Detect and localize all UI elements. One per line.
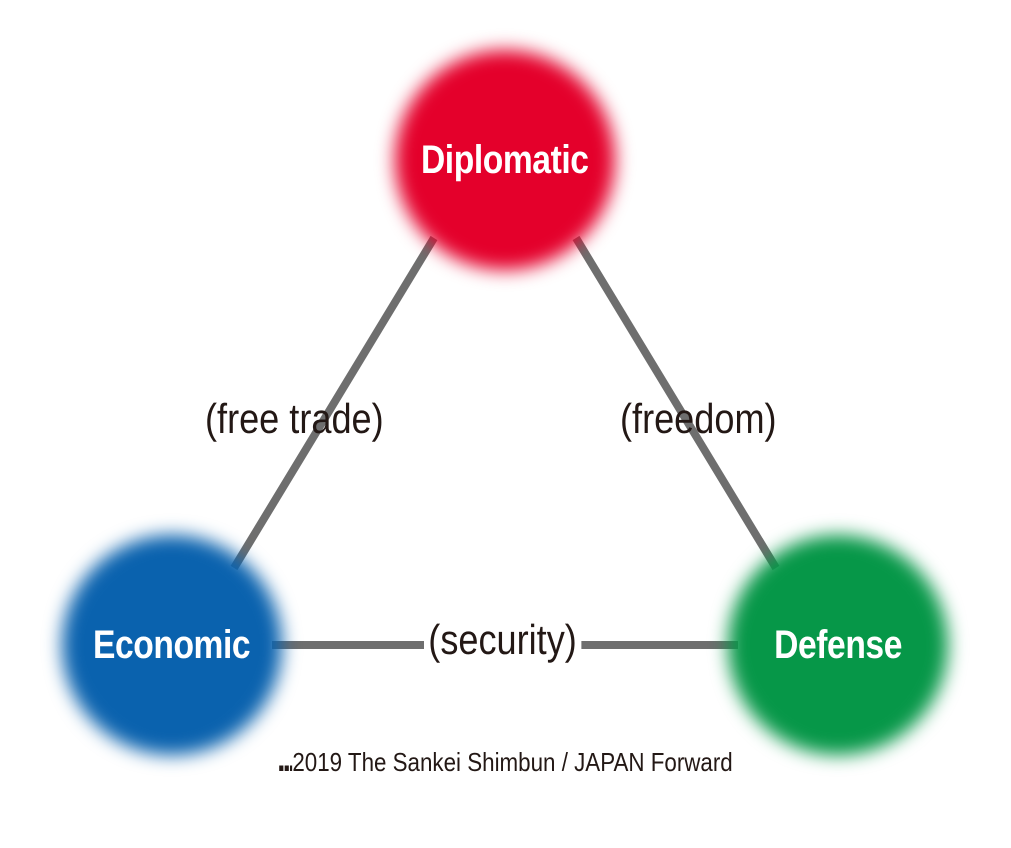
node-defense[interactable]: Defense [728,535,948,755]
copyright-text: ⑉2019 The Sankei Shimbun / JAPAN Forward [279,748,733,777]
node-diplomatic[interactable]: Diplomatic [395,50,615,270]
node-diplomatic-label: Diplomatic [421,140,589,180]
edge-label-security: (security) [424,617,581,663]
copyright-notice: ⑉2019 The Sankei Shimbun / JAPAN Forward [0,748,1011,777]
edge-label-free-trade: (free trade) [205,398,384,440]
node-defense-label: Defense [774,625,902,665]
node-economic[interactable]: Economic [62,535,282,755]
diagram-canvas: Diplomatic Economic Defense (free trade)… [0,0,1011,848]
node-economic-label: Economic [93,625,250,665]
edge-label-freedom: (freedom) [620,398,777,440]
